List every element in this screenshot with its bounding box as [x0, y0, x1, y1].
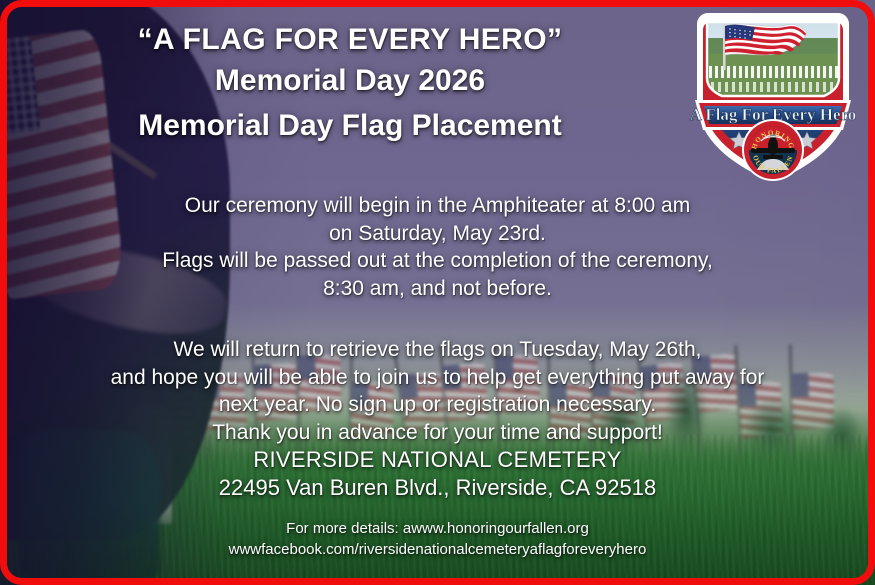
retrieval-paragraph: We will return to retrieve the flags on … — [0, 336, 875, 446]
retrieval-line-2: and hope you will be able to join us to … — [0, 364, 875, 392]
logo-shield-icon: A Flag For Every Hero — [683, 8, 863, 190]
location-block: RIVERSIDE NATIONAL CEMETERY 22495 Van Bu… — [0, 446, 875, 503]
title-block: “A FLAG FOR EVERY HERO” Memorial Day 202… — [0, 22, 700, 147]
retrieval-line-3: next year. No sign up or registration ne… — [0, 391, 875, 419]
a-flag-for-every-hero-logo: A Flag For Every Hero — [683, 8, 863, 190]
logo-photo-window — [707, 14, 839, 100]
retrieval-line-4: Thank you in advance for your time and s… — [0, 419, 875, 447]
ceremony-paragraph: Our ceremony will begin in the Amphiteat… — [0, 192, 875, 302]
retrieval-line-1: We will return to retrieve the flags on … — [0, 336, 875, 364]
cemetery-address: 22495 Van Buren Blvd., Riverside, CA 925… — [0, 474, 875, 503]
ceremony-line-3: Flags will be passed out at the completi… — [0, 247, 875, 275]
website-line: For more details: awww.honoringourfallen… — [0, 518, 875, 539]
ceremony-line-2: on Saturday, May 23rd. — [0, 220, 875, 248]
headline-quote: “A FLAG FOR EVERY HERO” — [0, 22, 700, 58]
cemetery-name: RIVERSIDE NATIONAL CEMETERY — [0, 446, 875, 474]
headline-event: Memorial Day Flag Placement — [0, 105, 700, 148]
memorial-day-flyer: A Flag For Every Hero — [0, 0, 875, 585]
headline-year: Memorial Day 2026 — [0, 58, 700, 105]
ceremony-line-1: Our ceremony will begin in the Amphiteat… — [0, 192, 875, 220]
facebook-line: wwwfacebook.com/riversidenationalcemeter… — [0, 539, 875, 560]
ceremony-line-4: 8:30 am, and not before. — [0, 275, 875, 303]
contact-block: For more details: awww.honoringourfallen… — [0, 518, 875, 561]
honoring-our-fallen-emblem: HONORING OUR FALLEN — [742, 119, 804, 181]
